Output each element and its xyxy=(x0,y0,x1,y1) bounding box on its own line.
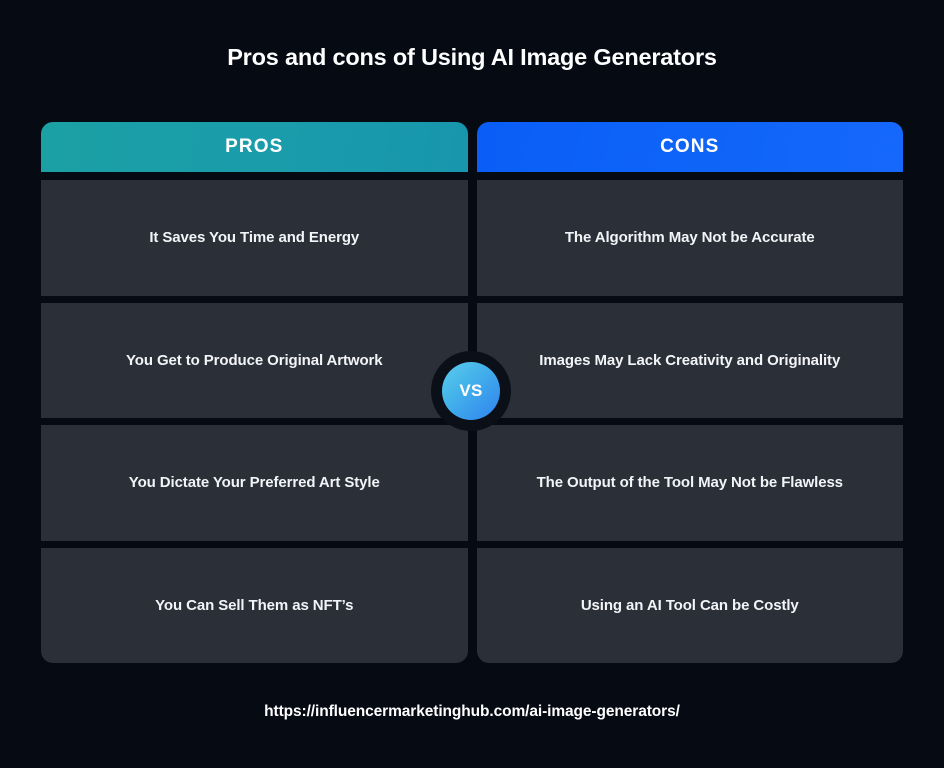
pros-item: You Get to Produce Original Artwork xyxy=(41,303,468,419)
source-url: https://influencermarketinghub.com/ai-im… xyxy=(0,703,944,721)
pros-item: You Dictate Your Preferred Art Style xyxy=(41,425,468,541)
column-cons: CONS The Algorithm May Not be Accurate I… xyxy=(477,122,904,663)
column-header-pros: PROS xyxy=(41,122,468,172)
infographic-page: Pros and cons of Using AI Image Generato… xyxy=(0,0,944,768)
cons-item: Using an AI Tool Can be Costly xyxy=(477,548,904,664)
cell-list-cons: The Algorithm May Not be Accurate Images… xyxy=(477,172,904,663)
cons-item: The Algorithm May Not be Accurate xyxy=(477,180,904,296)
pros-item: You Can Sell Them as NFT’s xyxy=(41,548,468,664)
cons-item: The Output of the Tool May Not be Flawle… xyxy=(477,425,904,541)
column-pros: PROS It Saves You Time and Energy You Ge… xyxy=(41,122,468,663)
column-header-cons: CONS xyxy=(477,122,904,172)
page-title: Pros and cons of Using AI Image Generato… xyxy=(0,44,944,71)
cell-list-pros: It Saves You Time and Energy You Get to … xyxy=(41,172,468,663)
versus-badge-label: VS xyxy=(442,362,500,420)
pros-item: It Saves You Time and Energy xyxy=(41,180,468,296)
versus-badge: VS xyxy=(431,351,511,431)
cons-item: Images May Lack Creativity and Originali… xyxy=(477,303,904,419)
